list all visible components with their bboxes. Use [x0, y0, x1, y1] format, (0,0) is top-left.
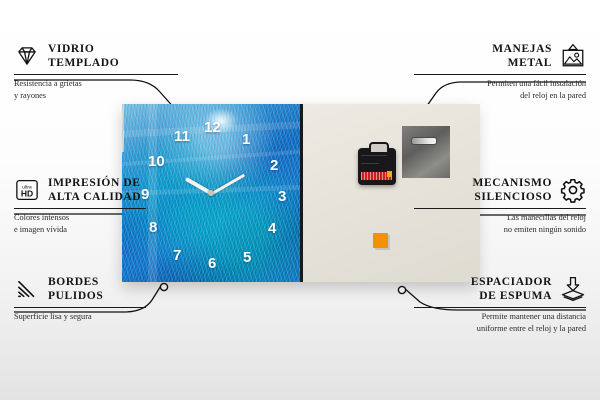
callout-title: MANEJAS METAL — [492, 42, 552, 71]
clock-numeral-11: 11 — [174, 129, 190, 144]
callout-header: ultra HD IMPRESIÓN DE ALTA CALIDAD — [14, 176, 174, 205]
mechanism-seam — [361, 155, 387, 156]
svg-text:HD: HD — [21, 189, 33, 199]
clock-numeral-1: 1 — [242, 132, 250, 147]
callout-rule — [14, 307, 146, 308]
callout-vidrio-templado: VIDRIO TEMPLADO Resistencia a grietas y … — [14, 42, 174, 101]
clock-numeral-12: 12 — [204, 120, 221, 135]
hanger-keyhole-slot — [411, 137, 437, 145]
callout-title: VIDRIO TEMPLADO — [48, 42, 119, 71]
leader-dot-espaciador — [398, 286, 405, 293]
callout-description: Superficie lisa y segura — [14, 311, 174, 322]
clock-numeral-6: 6 — [208, 256, 216, 271]
callout-header: MECANISMO SILENCIOSO — [414, 176, 586, 205]
polished-edges-icon — [14, 276, 40, 302]
callout-description: Las manecillas del reloj no emiten ningú… — [414, 212, 586, 235]
metal-hanger-plate — [402, 126, 450, 178]
callout-title: IMPRESIÓN DE ALTA CALIDAD — [48, 176, 141, 205]
mechanism-seam — [361, 163, 379, 164]
clock-numeral-10: 10 — [148, 154, 165, 169]
callout-espaciador-de-espuma: ESPACIADOR DE ESPUMA Permite mantener un… — [414, 275, 586, 334]
callout-rule — [414, 74, 586, 75]
callout-rule — [14, 208, 146, 209]
callout-description: Resistencia a grietas y rayones — [14, 78, 174, 101]
callout-description: Colores intensos e imagen vívida — [14, 212, 174, 235]
callout-description: Permiten una fácil instalación del reloj… — [414, 78, 586, 101]
clock-numeral-5: 5 — [243, 250, 251, 265]
diamond-icon — [14, 43, 40, 69]
callout-rule — [14, 74, 178, 75]
callout-header: ESPACIADOR DE ESPUMA — [414, 275, 586, 304]
callout-mecanismo-silencioso: MECANISMO SILENCIOSO Las manecillas del … — [414, 176, 586, 235]
infographic-canvas: 12 1 2 3 4 5 6 7 8 9 10 11 — [0, 0, 600, 400]
clock-numeral-4: 4 — [268, 221, 276, 236]
clock-numeral-3: 3 — [278, 189, 286, 204]
callout-title: BORDES PULIDOS — [48, 275, 103, 304]
callout-rule — [414, 208, 586, 209]
callout-bordes-pulidos: BORDES PULIDOS Superficie lisa y segura — [14, 275, 174, 323]
gear-icon — [560, 177, 586, 203]
clock-numeral-2: 2 — [270, 158, 278, 173]
clock-numeral-7: 7 — [173, 248, 181, 263]
mechanism-hook — [369, 142, 389, 152]
callout-header: BORDES PULIDOS — [14, 275, 174, 304]
callout-description: Permite mantener una distancia uniforme … — [414, 311, 586, 334]
clock-center-pivot — [208, 190, 214, 196]
callout-header: VIDRIO TEMPLADO — [14, 42, 174, 71]
callout-header: MANEJAS METAL — [414, 42, 586, 71]
callout-title: ESPACIADOR DE ESPUMA — [471, 275, 552, 304]
callout-title: MECANISMO SILENCIOSO — [472, 176, 552, 205]
mechanism-battery-marker — [387, 171, 392, 177]
callout-manejas-metal: MANEJAS METAL Permiten una fácil instala… — [414, 42, 586, 101]
picture-frame-hanger-icon — [560, 43, 586, 69]
foam-spacer-pad — [373, 233, 388, 248]
callout-impresion-alta-calidad: ultra HD IMPRESIÓN DE ALTA CALIDAD Color… — [14, 176, 174, 235]
ultra-hd-icon: ultra HD — [14, 177, 40, 203]
clock-mechanism-box — [358, 148, 396, 185]
arrow-down-stack-icon — [560, 276, 586, 302]
callout-rule — [414, 307, 586, 308]
